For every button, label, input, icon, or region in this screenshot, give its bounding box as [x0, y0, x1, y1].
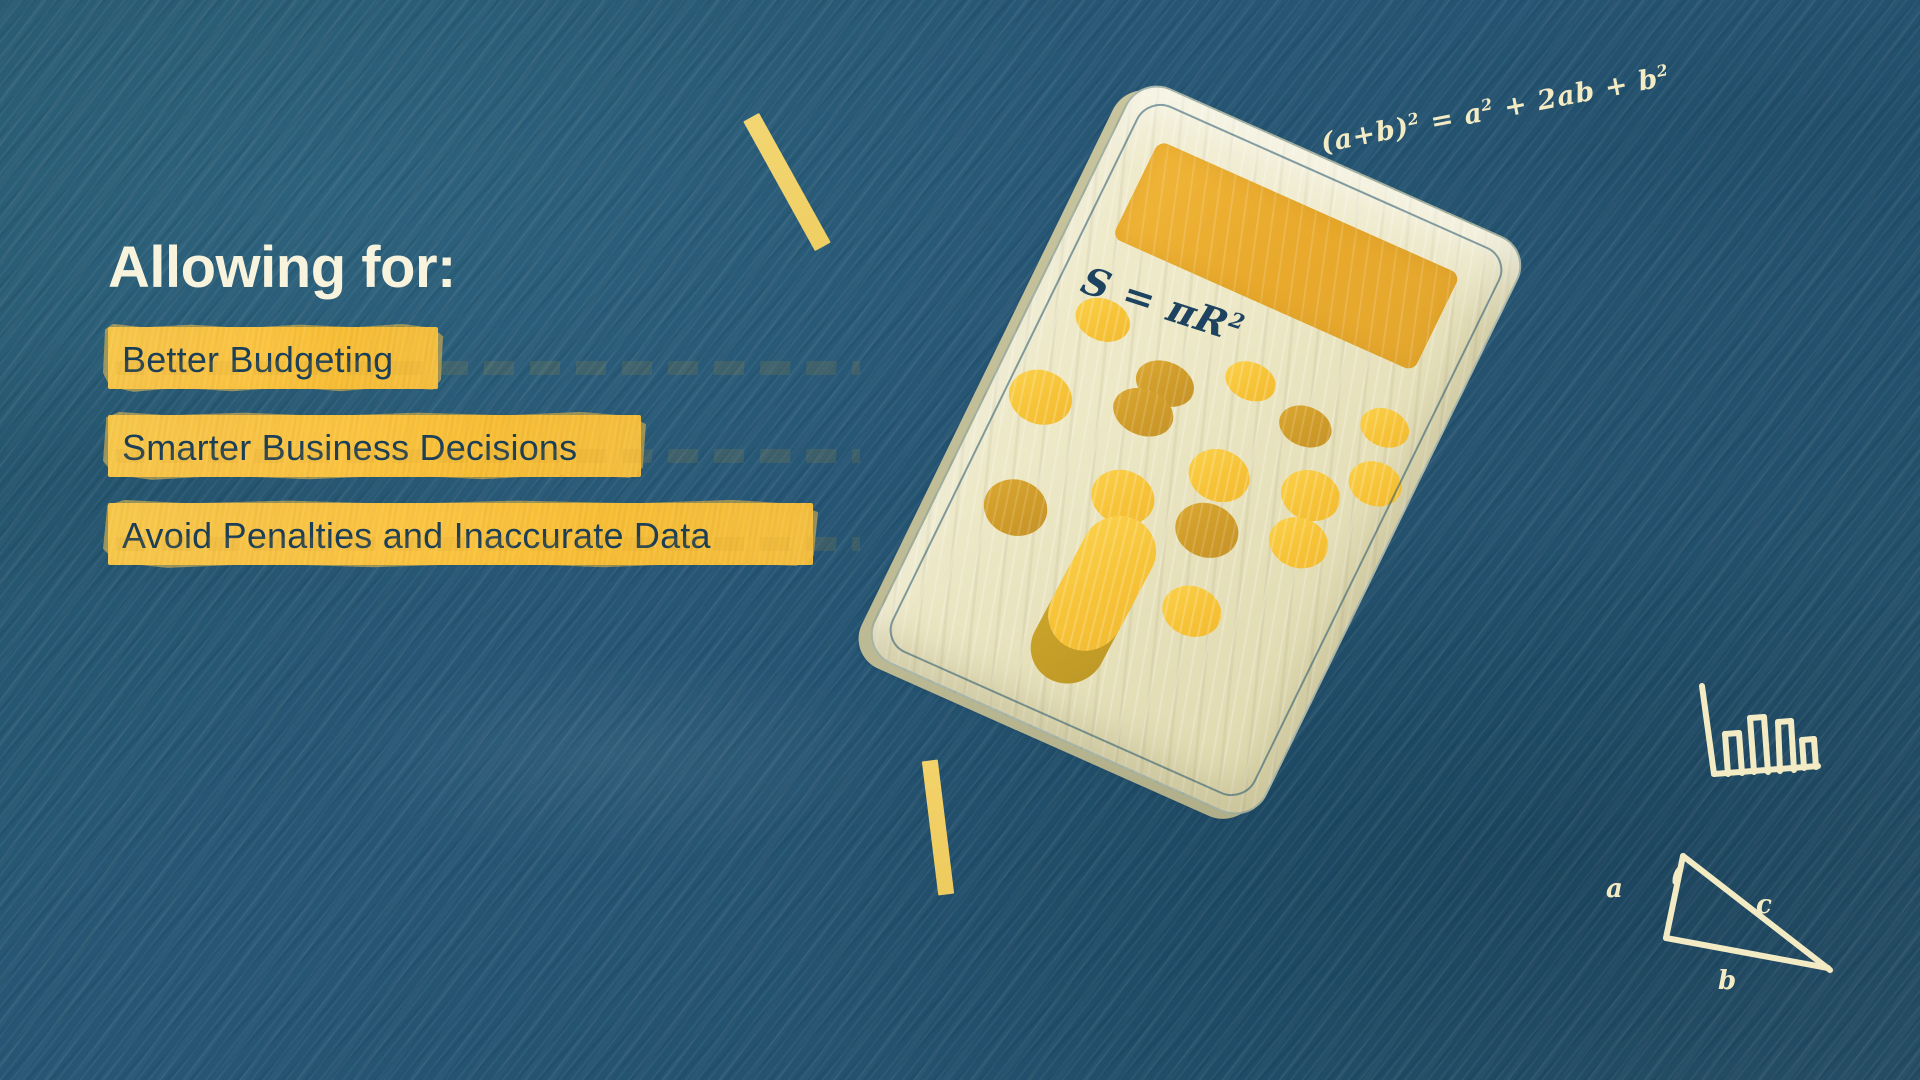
calculator-key[interactable]	[1219, 354, 1283, 409]
calculator-key[interactable]	[1341, 453, 1410, 515]
calculator-key[interactable]	[1166, 493, 1248, 568]
calculator-key-enter[interactable]	[1035, 503, 1169, 663]
triangle-label-b: b	[1718, 966, 1736, 996]
list-item: Better Budgeting	[108, 327, 868, 393]
highlight-label-3: Avoid Penalties and Inaccurate Data	[108, 503, 725, 567]
calculator-key[interactable]	[1179, 440, 1258, 512]
page-title: Allowing for:	[108, 238, 868, 299]
calculator-key[interactable]	[1153, 577, 1230, 646]
calculator-key[interactable]	[1354, 401, 1416, 456]
triangle-doodle-icon: a b c	[1628, 846, 1838, 996]
triangle-label-a: a	[1606, 874, 1623, 904]
highlight-label-2: Smarter Business Decisions	[108, 415, 591, 479]
list-item: Avoid Penalties and Inaccurate Data	[108, 503, 868, 569]
calculator-key[interactable]	[1272, 397, 1339, 455]
slide-canvas: Allowing for: Better Budgeting Smarter B…	[0, 0, 1920, 1080]
list-item: Smarter Business Decisions	[108, 415, 868, 481]
calculator-key[interactable]	[974, 469, 1057, 545]
text-column: Allowing for: Better Budgeting Smarter B…	[108, 238, 868, 591]
calculator-key[interactable]	[999, 360, 1081, 435]
bar-chart-doodle-icon	[1692, 682, 1822, 782]
triangle-label-c: c	[1756, 890, 1772, 920]
highlight-label-1: Better Budgeting	[108, 327, 407, 391]
